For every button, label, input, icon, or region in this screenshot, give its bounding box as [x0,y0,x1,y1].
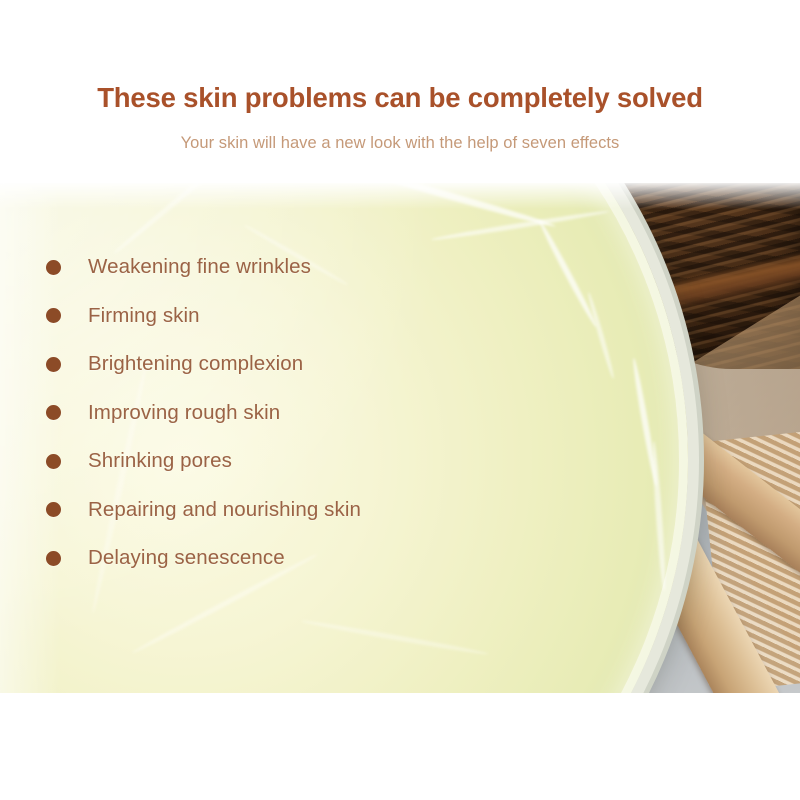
benefit-label: Improving rough skin [88,401,280,425]
page-title: These skin problems can be completely so… [0,82,800,114]
benefit-item: Delaying senescence [46,543,285,573]
bullet-icon [46,308,61,323]
page-subtitle: Your skin will have a new look with the … [0,134,800,153]
benefit-label: Weakening fine wrinkles [88,255,311,279]
benefit-label: Brightening complexion [88,352,303,376]
bullet-icon [46,502,61,517]
benefit-item: Improving rough skin [46,398,280,428]
footer-whitespace [0,693,800,800]
benefit-list: Weakening fine wrinklesFirming skinBrigh… [0,183,520,693]
benefit-item: Firming skin [46,301,200,331]
bullet-icon [46,454,61,469]
header-section: These skin problems can be completely so… [0,0,800,183]
benefit-label: Repairing and nourishing skin [88,498,361,522]
benefit-label: Delaying senescence [88,546,285,570]
benefit-item: Brightening complexion [46,349,303,379]
bullet-icon [46,405,61,420]
bullet-icon [46,260,61,275]
benefit-item: Shrinking pores [46,446,232,476]
bullet-icon [46,357,61,372]
promo-page: These skin problems can be completely so… [0,0,800,800]
bullet-icon [46,551,61,566]
benefit-label: Shrinking pores [88,449,232,473]
benefit-item: Weakening fine wrinkles [46,252,311,282]
benefit-label: Firming skin [88,304,200,328]
benefit-item: Repairing and nourishing skin [46,495,361,525]
